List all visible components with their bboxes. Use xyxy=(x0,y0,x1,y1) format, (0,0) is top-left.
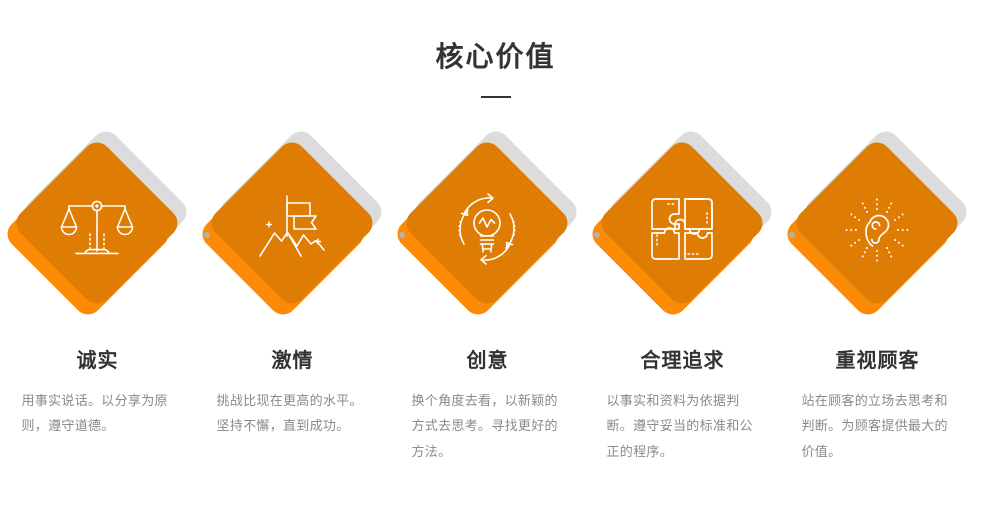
value-card-description: 以事实和资料为依据判断。遵守妥当的标准和公正的程序。 xyxy=(607,374,759,464)
value-card-description: 用事实说话。以分享为原则，遵守道德。 xyxy=(22,374,174,439)
diamond-main-layer xyxy=(596,137,769,310)
value-card-honesty[interactable]: 诚实 用事实说话。以分享为原则，遵守道德。 xyxy=(0,140,195,439)
diamond-stack xyxy=(390,140,585,330)
value-card-title: 诚实 xyxy=(77,330,119,374)
separator-dot xyxy=(789,232,795,238)
core-values-list: 诚实 用事实说话。以分享为原则，遵守道德。 xyxy=(0,140,991,464)
value-card-title: 合理追求 xyxy=(641,330,725,374)
diamond-main-layer xyxy=(791,137,964,310)
value-card-description: 换个角度去看，以新颖的方式去思考。寻找更好的方法。 xyxy=(412,374,564,464)
value-card-customer-focus[interactable]: 重视顾客 站在顾客的立场去思考和判断。为顾客提供最大的价值。 xyxy=(780,140,975,464)
diamond-stack xyxy=(195,140,390,330)
page-title: 核心价值 xyxy=(0,40,991,74)
value-card-title: 激情 xyxy=(272,330,314,374)
diamond-main-layer xyxy=(206,137,379,310)
diamond-stack xyxy=(0,140,195,330)
value-card-title: 创意 xyxy=(467,330,509,374)
diamond-main-layer xyxy=(401,137,574,310)
value-card-title: 重视顾客 xyxy=(836,330,920,374)
value-card-description: 挑战比现在更高的水平。坚持不懈，直到成功。 xyxy=(217,374,369,439)
value-card-creativity[interactable]: 创意 换个角度去看，以新颖的方式去思考。寻找更好的方法。 xyxy=(390,140,585,464)
page-header: 核心价值 xyxy=(0,0,991,98)
diamond-stack xyxy=(780,140,975,330)
separator-dot xyxy=(594,232,600,238)
value-card-description: 站在顾客的立场去思考和判断。为顾客提供最大的价值。 xyxy=(802,374,954,464)
diamond-stack xyxy=(585,140,780,330)
title-divider xyxy=(481,96,511,98)
separator-dot xyxy=(204,232,210,238)
value-card-rational-pursuit[interactable]: 合理追求 以事实和资料为依据判断。遵守妥当的标准和公正的程序。 xyxy=(585,140,780,464)
separator-dot xyxy=(399,232,405,238)
value-card-passion[interactable]: 激情 挑战比现在更高的水平。坚持不懈，直到成功。 xyxy=(195,140,390,439)
diamond-main-layer xyxy=(11,137,184,310)
